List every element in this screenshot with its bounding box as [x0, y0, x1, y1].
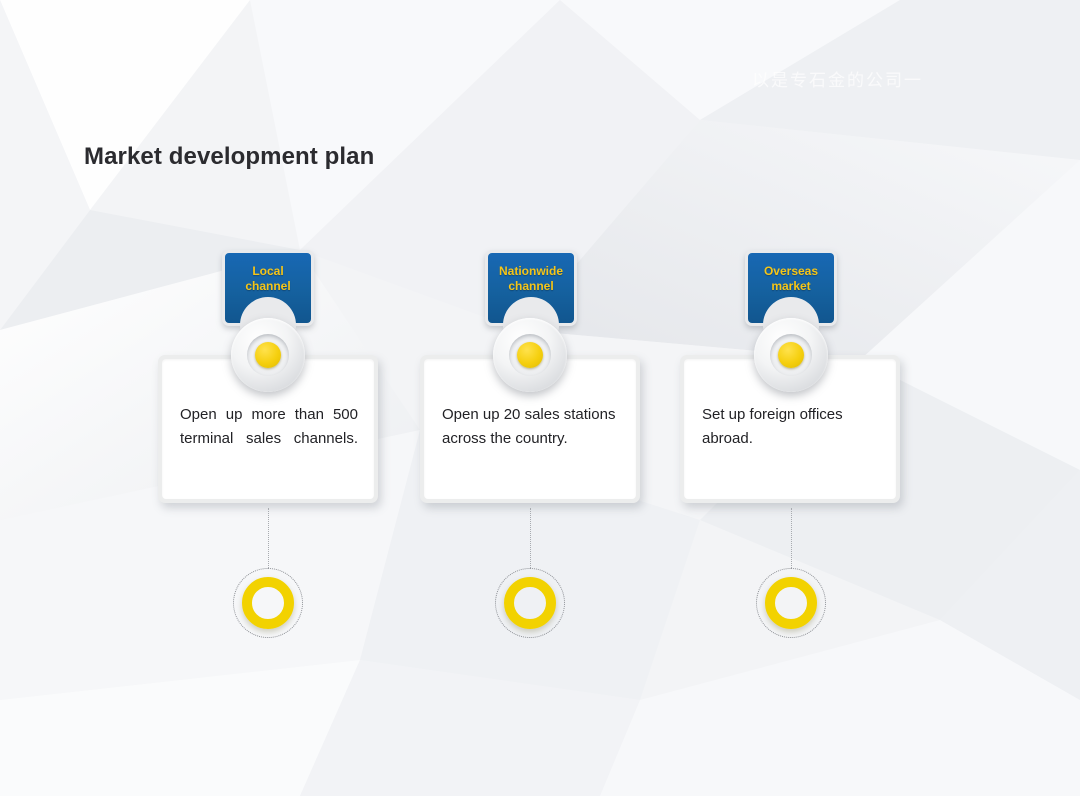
knob-dot-icon [778, 342, 804, 368]
card-body-text: Set up foreign offices abroad. [702, 403, 880, 452]
badge-label-line2: channel [508, 279, 553, 293]
card-body-text: Open up more than 500 terminal sales cha… [180, 403, 358, 476]
card-body-text: Open up 20 sales stations across the cou… [442, 403, 620, 452]
ring-marker-nationwide[interactable] [495, 568, 565, 638]
connector-line-nationwide [530, 508, 531, 568]
badge-local-channel[interactable]: Local channel [222, 250, 314, 326]
yellow-ring-icon [765, 577, 817, 629]
badge-nationwide-channel[interactable]: Nationwide channel [485, 250, 577, 326]
badge-overseas-market[interactable]: Overseas market [745, 250, 837, 326]
knob-dot-icon [255, 342, 281, 368]
badge-label: Local channel [241, 264, 294, 293]
badge-label-line1: Nationwide [499, 264, 563, 278]
badge-label: Nationwide channel [495, 264, 567, 293]
badge-label-line2: market [771, 279, 810, 293]
badge-label-line1: Overseas [764, 264, 818, 278]
knob-dot-icon [517, 342, 543, 368]
yellow-ring-icon [504, 577, 556, 629]
ring-marker-overseas[interactable] [756, 568, 826, 638]
knob-connector-local [231, 318, 305, 392]
knob-connector-overseas [754, 318, 828, 392]
ring-marker-local[interactable] [233, 568, 303, 638]
knob-connector-nationwide [493, 318, 567, 392]
yellow-ring-icon [242, 577, 294, 629]
page-title: Market development plan [84, 143, 374, 171]
connector-line-overseas [791, 508, 792, 568]
connector-line-local [268, 508, 269, 568]
badge-label: Overseas market [760, 264, 822, 293]
badge-label-line2: channel [245, 279, 290, 293]
badge-label-line1: Local [252, 264, 283, 278]
